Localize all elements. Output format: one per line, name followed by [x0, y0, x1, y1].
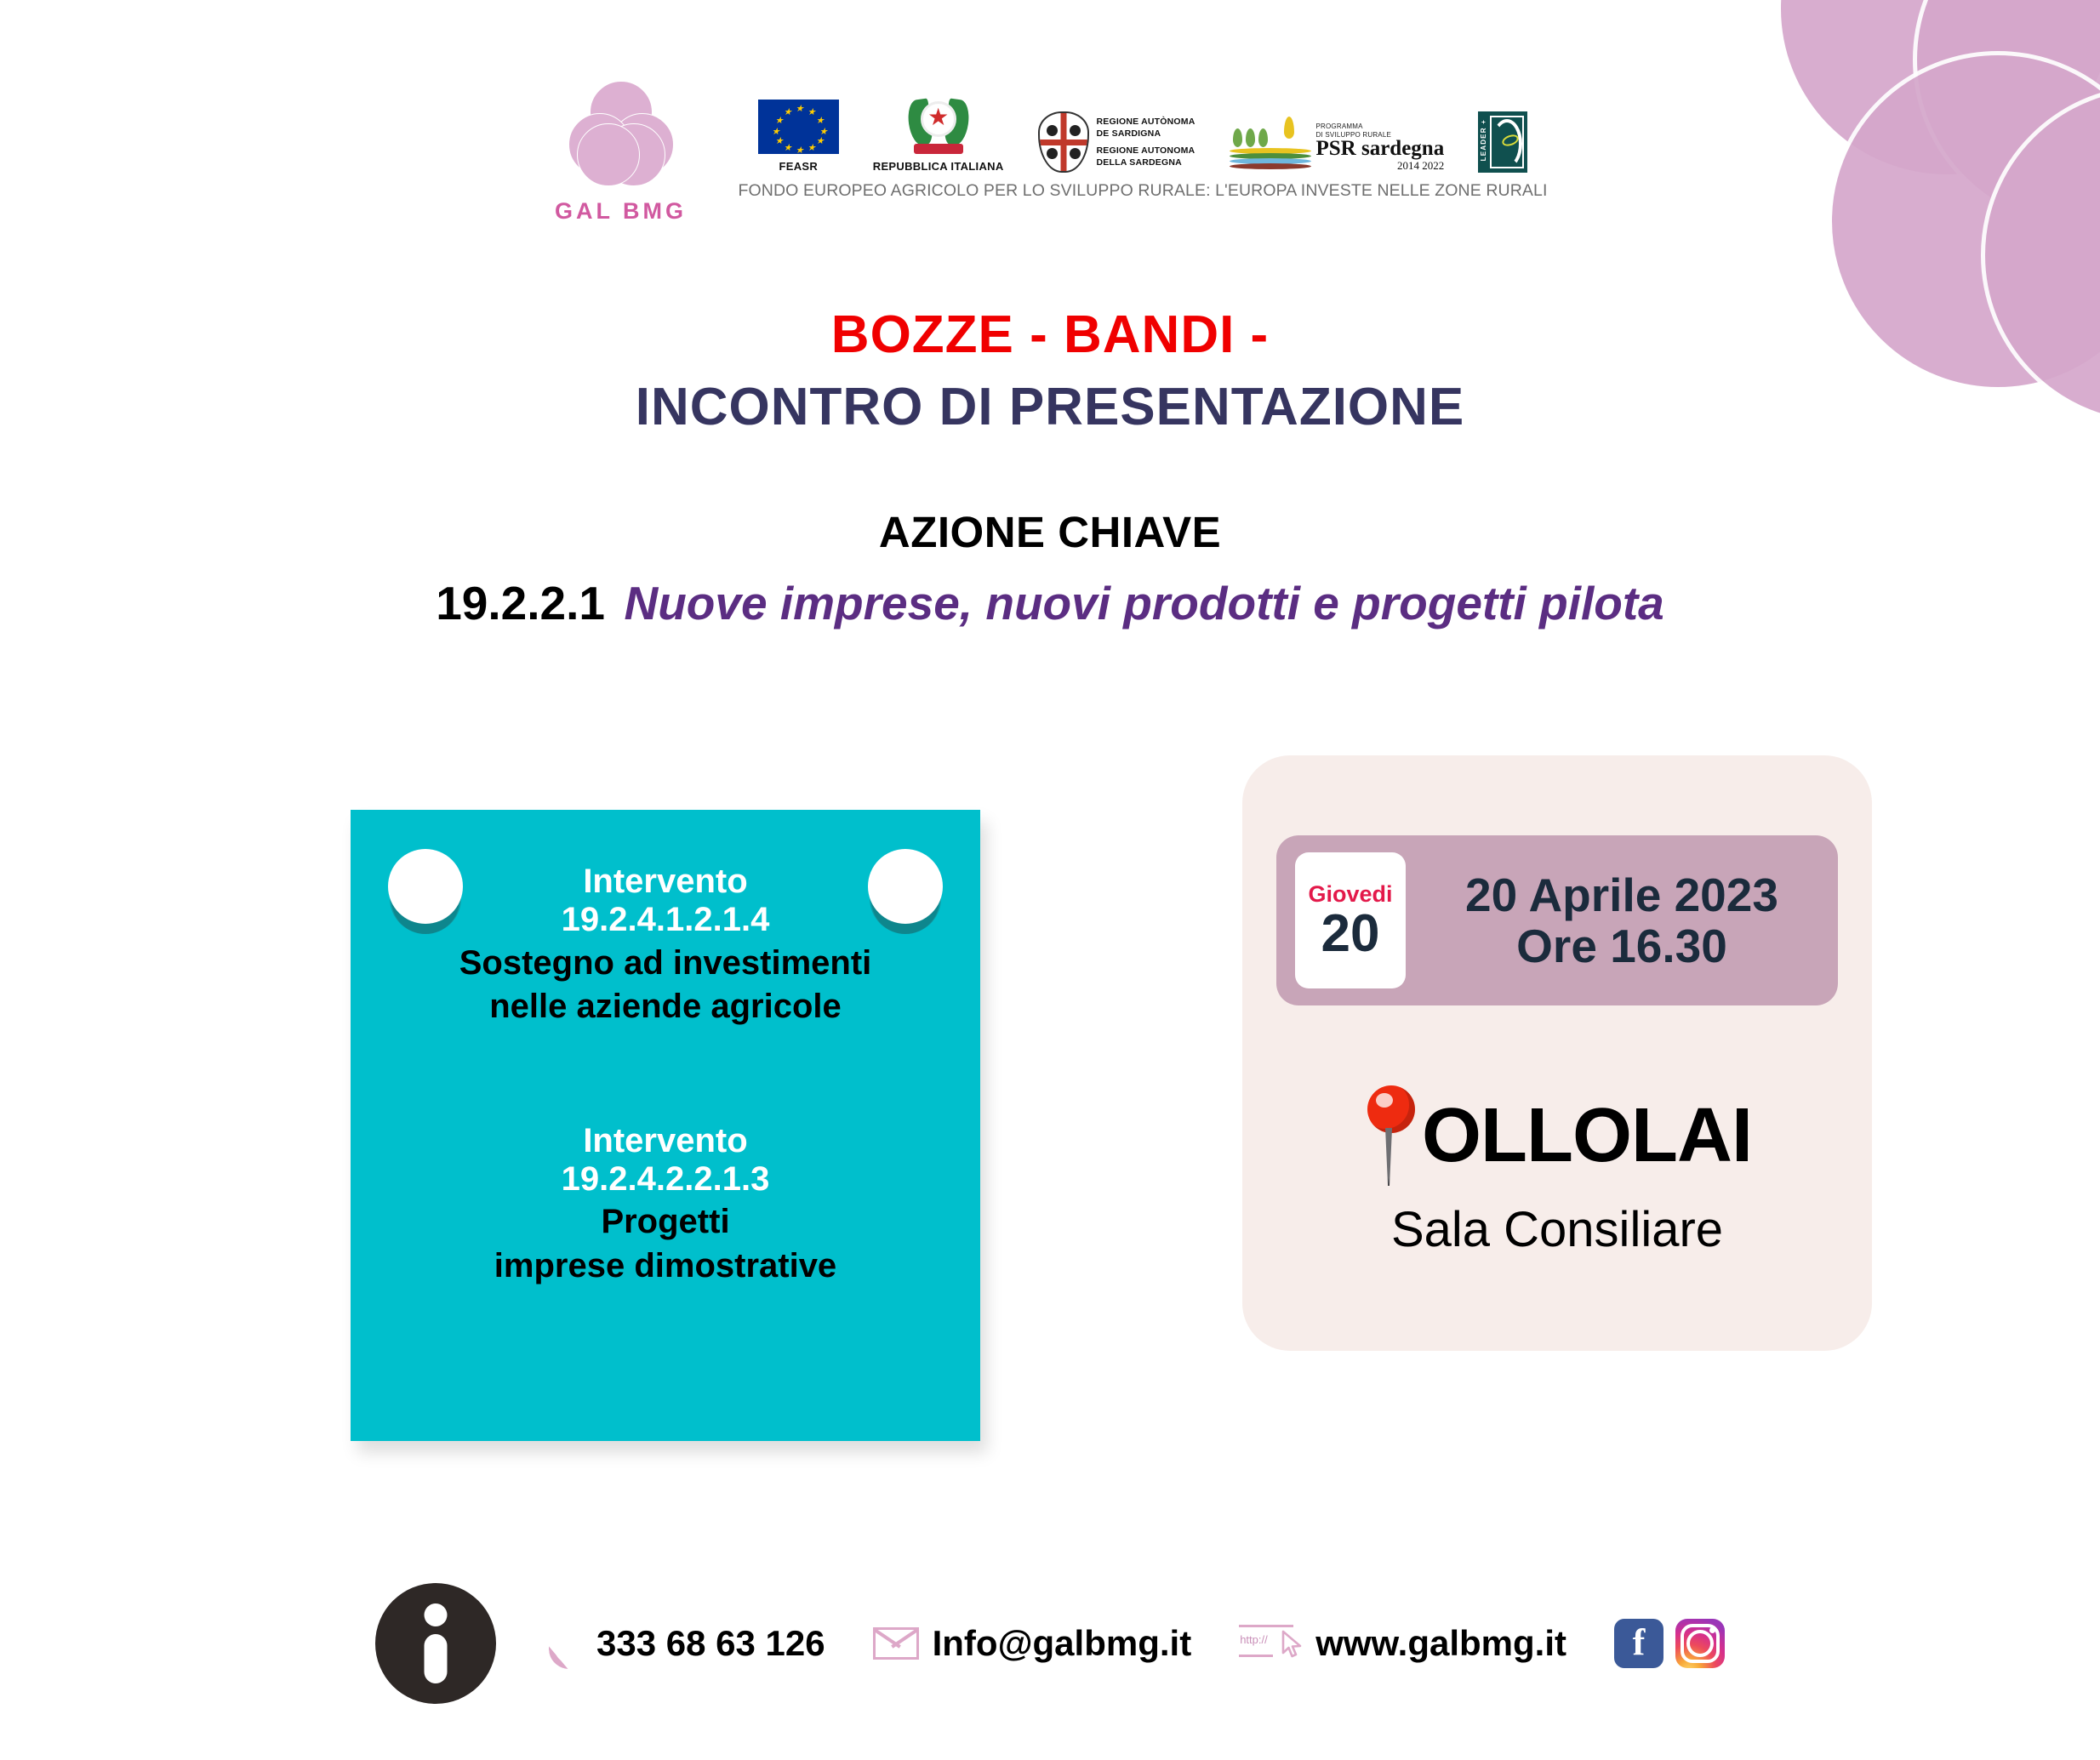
funding-tagline: FONDO EUROPEO AGRICOLO PER LO SVILUPPO R…	[739, 181, 1548, 201]
sardegna-line-3: REGIONE AUTONOMA	[1097, 145, 1196, 157]
decorative-pin-circle-right	[868, 849, 943, 924]
location-name-row: OLLOLAI	[1242, 1085, 1872, 1188]
regione-sardegna-logo: REGIONE AUTÒNOMA DE SARDIGNA REGIONE AUT…	[1038, 111, 1196, 173]
sardegna-line-1: REGIONE AUTÒNOMA	[1097, 116, 1196, 128]
phone-contact[interactable]: 333 68 63 126	[545, 1623, 825, 1664]
phone-number[interactable]: 333 68 63 126	[596, 1623, 825, 1664]
psr-year-from: 2014	[1397, 159, 1419, 172]
psr-sardegna-waves-icon	[1230, 117, 1311, 173]
measure-body-line2: nelle aziende agricole	[374, 988, 956, 1027]
gal-bmg-logo: GAL BMG	[553, 81, 689, 225]
social-links: f	[1614, 1619, 1725, 1668]
header-logos: GAL BMG ★★ ★★ ★★ ★★ ★★ ★★ FEASR ★	[0, 81, 2100, 225]
feasr-logo: ★★ ★★ ★★ ★★ ★★ ★★ FEASR	[758, 100, 839, 173]
calendar-weekday: Giovedi	[1308, 881, 1392, 908]
date-badge: Giovedi 20 20 Aprile 2023 Ore 16.30	[1276, 835, 1838, 1005]
measure-label-line1: Intervento	[374, 1122, 956, 1160]
decorative-pin-circle-left	[388, 849, 463, 924]
measure-body-line2: imprese dimostrative	[374, 1247, 956, 1286]
psr-years: 2014 2022	[1316, 159, 1445, 173]
funding-logos-block: ★★ ★★ ★★ ★★ ★★ ★★ FEASR ★ REPUBBLICA ITA…	[739, 81, 1548, 201]
facebook-icon[interactable]: f	[1614, 1619, 1663, 1668]
leader-label: LEADER +	[1480, 119, 1487, 161]
measure-body-line1: Progetti	[374, 1203, 956, 1242]
map-pin-icon	[1362, 1085, 1417, 1188]
measure-item: Intervento 19.2.4.2.2.1.3 Progetti impre…	[351, 1027, 980, 1286]
flower-circles-logo-icon	[568, 81, 674, 186]
measure-label-line2: 19.2.4.2.2.1.3	[374, 1160, 956, 1199]
event-details-panel: Giovedi 20 20 Aprile 2023 Ore 16.30 OLLO…	[1242, 755, 1872, 1351]
psr-sardegna-text: PROGRAMMA DI SVILUPPO RURALE PSR sardegn…	[1316, 122, 1445, 173]
eu-flag-icon: ★★ ★★ ★★ ★★ ★★ ★★	[758, 100, 839, 154]
measure-label-line2: 19.2.4.1.2.1.4	[374, 901, 956, 939]
measures-card: Intervento 19.2.4.1.2.1.4 Sostegno ad in…	[351, 810, 980, 1441]
email-contact[interactable]: Info@galbmg.it	[873, 1623, 1192, 1664]
feasr-caption: FEASR	[779, 160, 818, 173]
funding-logos-row: ★★ ★★ ★★ ★★ ★★ ★★ FEASR ★ REPUBBLICA ITA…	[758, 81, 1527, 173]
instagram-icon[interactable]	[1675, 1619, 1725, 1668]
info-circle-icon	[375, 1583, 496, 1704]
date-text-block: 20 Aprile 2023 Ore 16.30	[1406, 869, 1838, 972]
repubblica-italiana-logo: ★ REPUBBLICA ITALIANA	[873, 96, 1004, 173]
action-row: 19.2.2.1 Nuove imprese, nuovi prodotti e…	[0, 576, 2100, 630]
psr-year-to: 2022	[1422, 159, 1444, 172]
location-venue: Sala Consiliare	[1242, 1201, 1872, 1258]
leader-plus-icon: LEADER +	[1478, 111, 1527, 173]
sardinia-four-moors-shield-icon	[1038, 111, 1089, 173]
location-block: OLLOLAI Sala Consiliare	[1242, 1085, 1872, 1258]
event-title: INCONTRO DI PRESENTAZIONE	[0, 377, 2100, 437]
calendar-chip: Giovedi 20	[1295, 852, 1406, 988]
email-address[interactable]: Info@galbmg.it	[933, 1623, 1192, 1664]
draft-title: BOZZE - BANDI -	[0, 305, 2100, 365]
phone-icon	[545, 1625, 583, 1662]
regione-sardegna-text: REGIONE AUTÒNOMA DE SARDIGNA REGIONE AUT…	[1097, 116, 1196, 168]
browser-url-label: http://	[1240, 1633, 1268, 1646]
psr-sardegna-logo: PROGRAMMA DI SVILUPPO RURALE PSR sardegn…	[1230, 117, 1445, 173]
website-contact[interactable]: http:// www.galbmg.it	[1239, 1623, 1566, 1664]
title-block: BOZZE - BANDI - INCONTRO DI PRESENTAZION…	[0, 305, 2100, 630]
browser-cursor-icon: http://	[1239, 1623, 1302, 1664]
event-date: 20 Aprile 2023	[1406, 869, 1838, 921]
sardegna-line-2: DE SARDIGNA	[1097, 128, 1196, 140]
key-action-label: AZIONE CHIAVE	[0, 507, 2100, 557]
contact-footer: 333 68 63 126 Info@galbmg.it http:// www…	[0, 1583, 2100, 1704]
psr-title: PSR sardegna	[1316, 139, 1445, 159]
gal-bmg-logo-text: GAL BMG	[553, 198, 689, 225]
repubblica-caption: REPUBBLICA ITALIANA	[873, 160, 1004, 173]
website-url[interactable]: www.galbmg.it	[1315, 1623, 1566, 1664]
event-time: Ore 16.30	[1406, 920, 1838, 972]
psr-small-1: PROGRAMMA	[1316, 122, 1445, 131]
italian-republic-emblem-icon: ★	[907, 96, 970, 154]
sardegna-line-4: DELLA SARDEGNA	[1097, 157, 1196, 168]
measure-body-line1: Sostegno ad investimenti	[374, 944, 956, 983]
location-name: OLLOLAI	[1422, 1100, 1752, 1173]
action-description: Nuove imprese, nuovi prodotti e progetti…	[624, 577, 1663, 629]
envelope-icon	[873, 1627, 919, 1660]
action-code: 19.2.2.1	[436, 577, 605, 629]
calendar-day-number: 20	[1321, 908, 1380, 960]
